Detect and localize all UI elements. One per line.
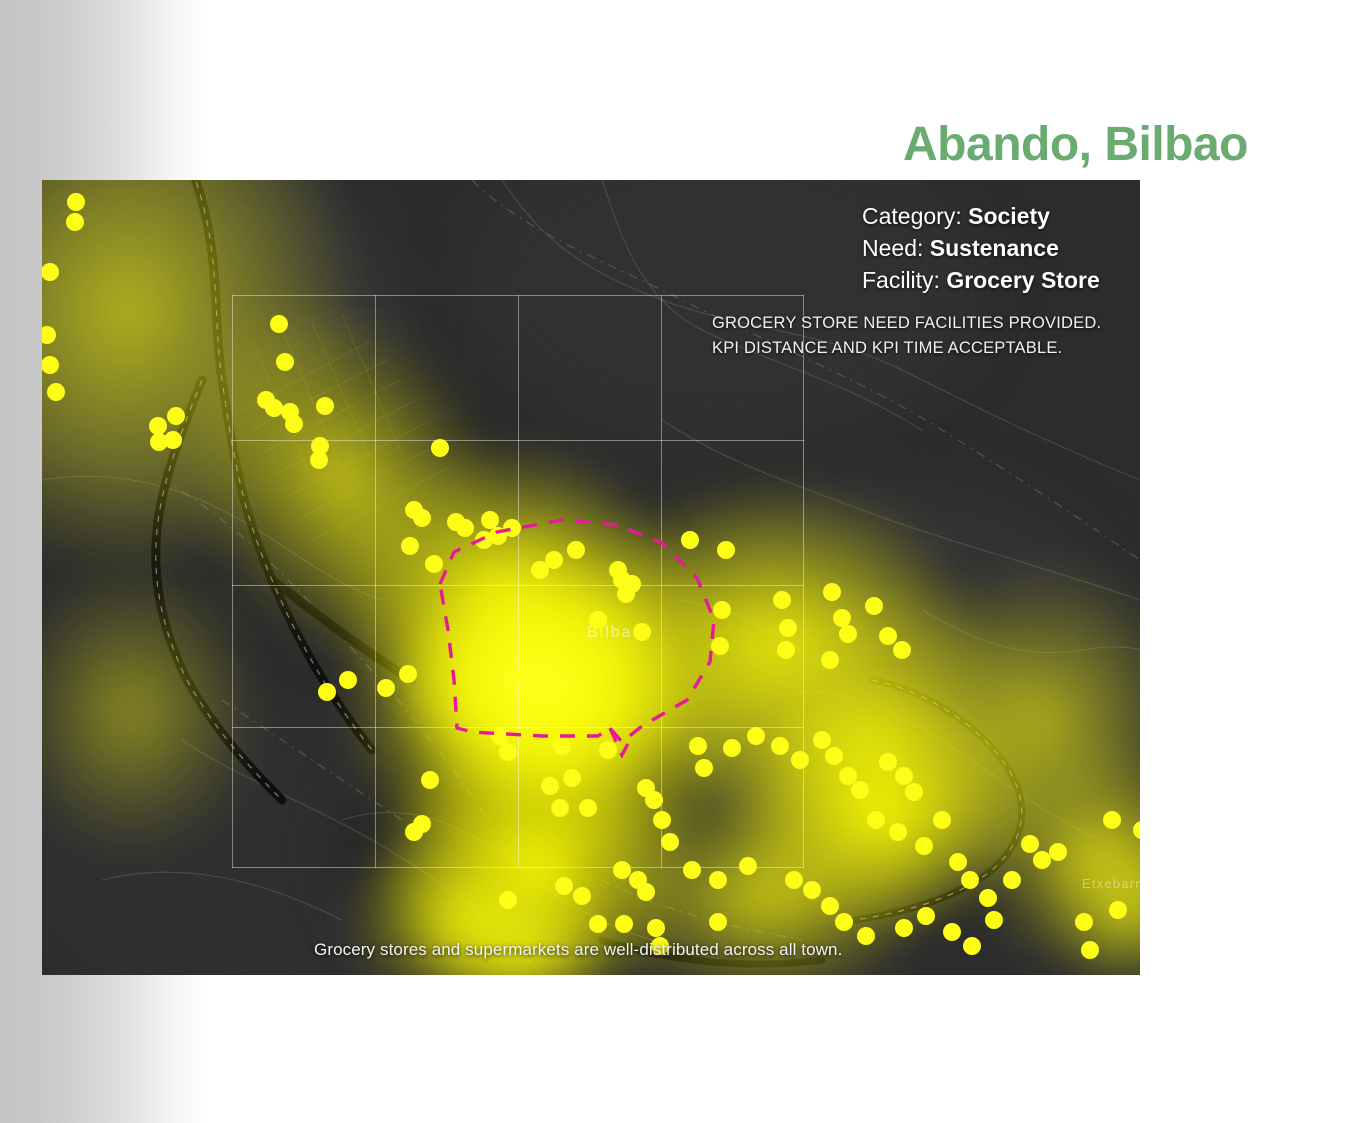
map-canvas[interactable]: Bilbao Etxebarri Category: Society Need:… [42,180,1140,975]
abando-boundary [440,520,714,742]
need-value: Sustenance [930,235,1059,261]
meta-row-need: Need: Sustenance [862,232,1132,264]
map-caption: Grocery stores and supermarkets are well… [314,940,954,960]
facility-value: Grocery Store [946,267,1099,293]
district-boundary-layer [42,180,1140,975]
kpi-line-1: GROCERY STORE NEED FACILITIES PROVIDED. [712,311,1132,336]
kpi-statement: GROCERY STORE NEED FACILITIES PROVIDED. … [712,311,1132,361]
boundary-notch [610,728,632,755]
meta-row-category: Category: Society [862,200,1132,232]
facility-meta-block: Category: Society Need: Sustenance Facil… [862,200,1132,296]
need-label: Need: [862,235,923,261]
page-title: Abando, Bilbao [808,117,1248,172]
kpi-line-2: KPI DISTANCE AND KPI TIME ACCEPTABLE. [712,336,1132,361]
category-value: Society [968,203,1050,229]
meta-row-facility: Facility: Grocery Store [862,264,1132,296]
facility-label: Facility: [862,267,940,293]
category-label: Category: [862,203,962,229]
